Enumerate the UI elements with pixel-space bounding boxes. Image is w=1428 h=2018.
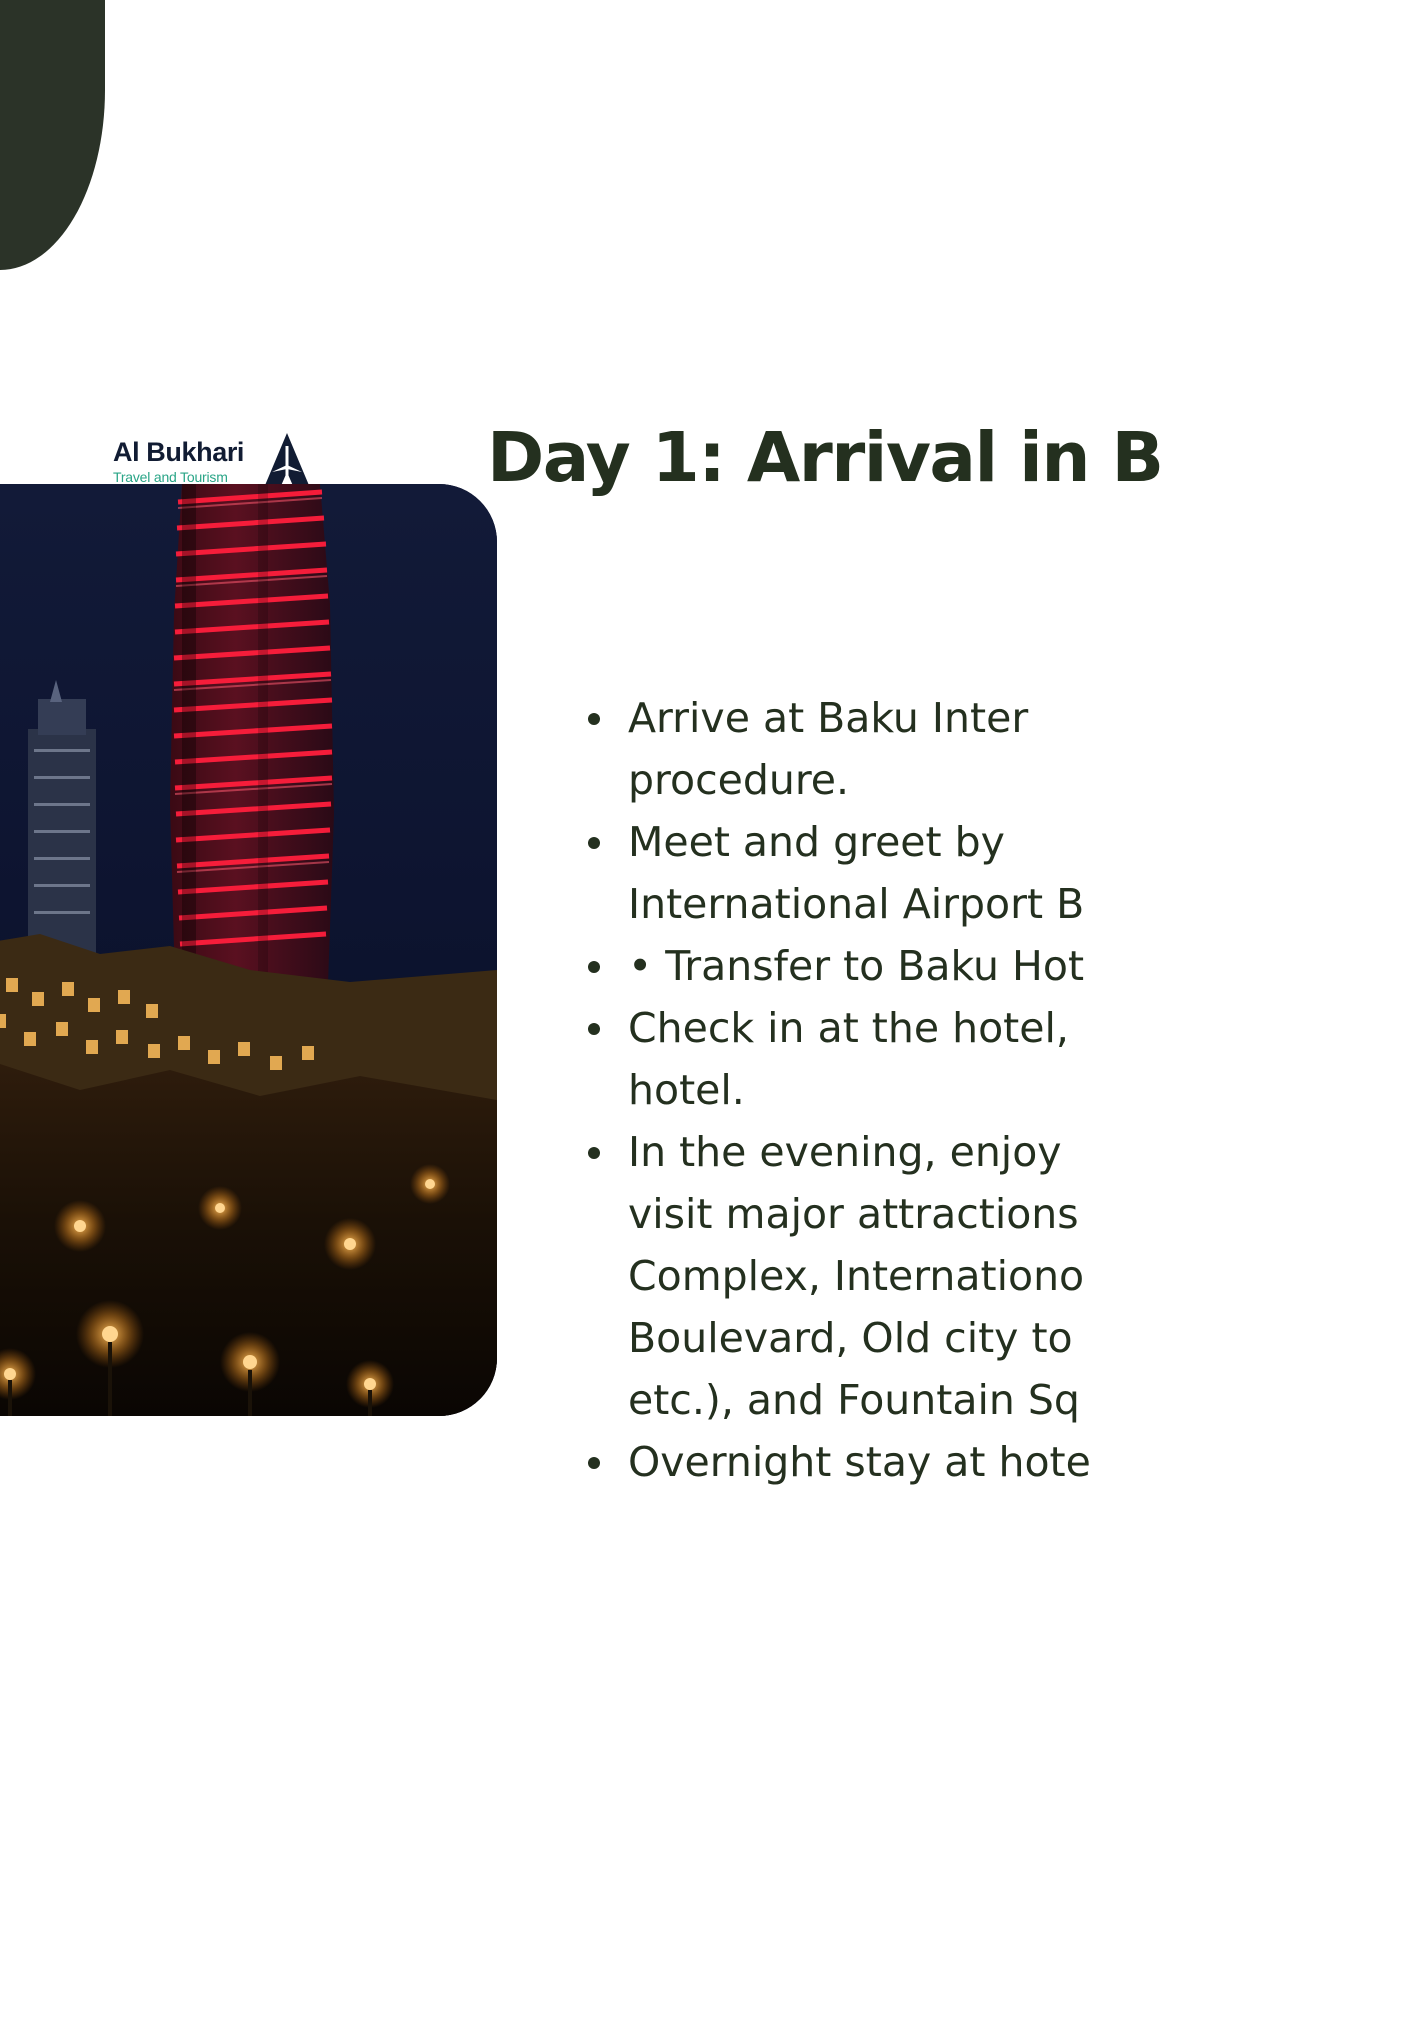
- list-item-text: procedure.: [628, 756, 849, 804]
- list-item: hotel.: [570, 1060, 1428, 1120]
- bullet-dot-icon: [588, 1457, 600, 1469]
- bullet-dot-icon: [588, 1023, 600, 1035]
- list-item-text: Check in at the hotel,: [628, 1004, 1069, 1052]
- list-item: Boulevard, Old city to: [570, 1308, 1428, 1368]
- brand-tagline: Travel and Tourism: [113, 470, 244, 484]
- list-item-text: Boulevard, Old city to: [628, 1314, 1073, 1362]
- list-item-text: • Transfer to Baku Hot: [628, 942, 1084, 990]
- list-item: • Transfer to Baku Hot: [570, 936, 1428, 996]
- list-item-text: visit major attractions: [628, 1190, 1079, 1238]
- list-item: procedure.: [570, 750, 1428, 810]
- page-title: Day 1: Arrival in B: [487, 418, 1163, 498]
- slide-root: Al Bukhari Travel and Tourism (L.L.C) Da…: [0, 0, 1428, 2018]
- list-item-text: In the evening, enjoy: [628, 1128, 1062, 1176]
- list-item-text: Overnight stay at hote: [628, 1438, 1091, 1486]
- list-item: visit major attractions: [570, 1184, 1428, 1244]
- bullet-dot-icon: [588, 1147, 600, 1159]
- list-item: etc.), and Fountain Sq: [570, 1370, 1428, 1430]
- bullet-dot-icon: [588, 713, 600, 725]
- list-item: Meet and greet by: [570, 812, 1428, 872]
- list-item-text: Meet and greet by: [628, 818, 1005, 866]
- bullet-dot-icon: [588, 961, 600, 973]
- list-item-text: etc.), and Fountain Sq: [628, 1376, 1080, 1424]
- list-item: Check in at the hotel,: [570, 998, 1428, 1058]
- list-item: In the evening, enjoy: [570, 1122, 1428, 1182]
- list-item-text: Complex, Internationo: [628, 1252, 1084, 1300]
- list-item: International Airport B: [570, 874, 1428, 934]
- brand-name: Al Bukhari: [113, 439, 244, 466]
- list-item-text: Arrive at Baku Inter: [628, 694, 1028, 742]
- baku-night-photo: [0, 484, 497, 1416]
- list-item-text: International Airport B: [628, 880, 1084, 928]
- list-item: Overnight stay at hote: [570, 1432, 1428, 1492]
- list-item-text: hotel.: [628, 1066, 745, 1114]
- list-item: Arrive at Baku Inter: [570, 688, 1428, 748]
- bullet-dot-icon: [588, 837, 600, 849]
- top-left-green-blob: [0, 0, 105, 270]
- itinerary-bullet-list: Arrive at Baku Inter procedure. Meet and…: [570, 688, 1428, 1494]
- list-item: Complex, Internationo: [570, 1246, 1428, 1306]
